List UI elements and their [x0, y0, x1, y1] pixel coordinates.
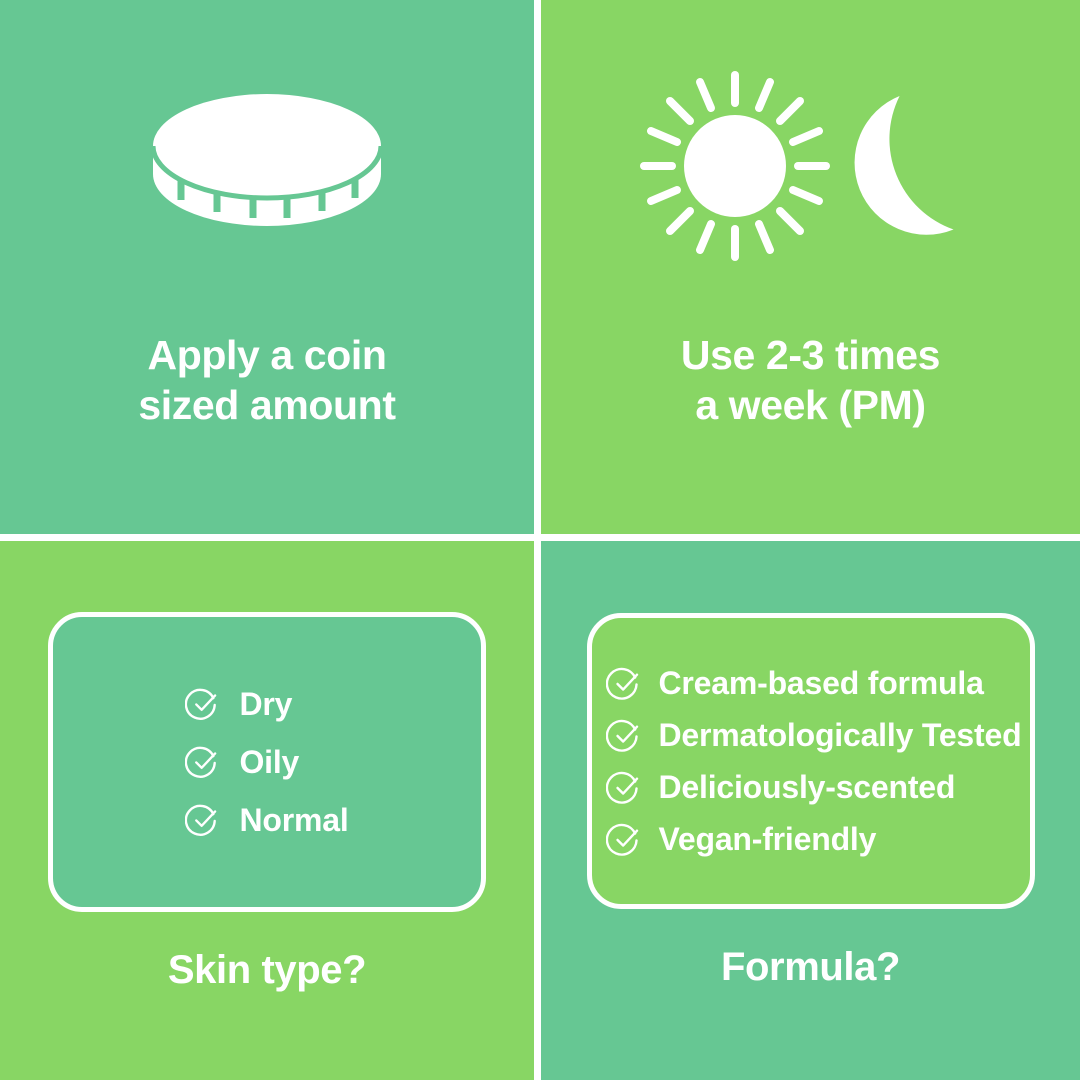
panel-formula: Cream-based formula Dermatologically Tes… — [541, 541, 1080, 1080]
coin-icon-stage — [0, 0, 534, 330]
list-item-label: Normal — [239, 802, 348, 839]
list-item[interactable]: Dermatologically Tested — [606, 717, 1022, 754]
check-circle-icon — [606, 821, 643, 858]
list-item[interactable]: Oily — [185, 744, 348, 781]
check-circle-icon — [185, 744, 221, 780]
list-item-label: Cream-based formula — [659, 665, 984, 702]
skin-type-list: Dry Oily Normal — [185, 686, 348, 839]
frequency-caption-line1: Use 2-3 times — [681, 330, 940, 380]
check-circle-icon — [185, 686, 221, 722]
list-item-label: Dry — [239, 686, 292, 723]
list-item[interactable]: Normal — [185, 802, 348, 839]
list-item-label: Dermatologically Tested — [659, 717, 1022, 754]
list-item[interactable]: Cream-based formula — [606, 665, 1022, 702]
list-item-label: Oily — [239, 744, 299, 781]
list-item[interactable]: Dry — [185, 686, 348, 723]
apply-caption: Apply a coin sized amount — [108, 330, 425, 430]
list-item[interactable]: Vegan-friendly — [606, 821, 1022, 858]
apply-caption-line2: sized amount — [138, 380, 395, 430]
skin-type-title: Skin type? — [168, 948, 366, 993]
frequency-caption: Use 2-3 times a week (PM) — [651, 330, 970, 430]
formula-list: Cream-based formula Dermatologically Tes… — [606, 665, 1022, 858]
list-item-label: Vegan-friendly — [659, 821, 877, 858]
formula-title: Formula? — [721, 945, 900, 990]
sun-moon-icon-group — [626, 65, 996, 265]
panel-skin-type: Dry Oily Normal Ski — [0, 541, 534, 1080]
skin-type-card: Dry Oily Normal — [48, 612, 486, 912]
check-circle-icon — [185, 802, 221, 838]
sun-moon-icon-stage — [541, 0, 1080, 330]
list-item-label: Deliciously-scented — [659, 769, 956, 806]
formula-card: Cream-based formula Dermatologically Tes… — [587, 613, 1035, 909]
list-item[interactable]: Deliciously-scented — [606, 769, 1022, 806]
frequency-caption-line2: a week (PM) — [681, 380, 940, 430]
apply-caption-line1: Apply a coin — [138, 330, 395, 380]
coin-stack-icon — [147, 90, 387, 240]
crescent-moon-icon — [832, 96, 953, 256]
panel-usage-frequency: Use 2-3 times a week (PM) — [541, 0, 1080, 534]
sun-icon — [644, 75, 826, 257]
check-circle-icon — [606, 665, 643, 702]
check-circle-icon — [606, 717, 643, 754]
panel-apply-amount: Apply a coin sized amount — [0, 0, 534, 534]
check-circle-icon — [606, 769, 643, 806]
infographic-board: Apply a coin sized amount — [0, 0, 1080, 1080]
